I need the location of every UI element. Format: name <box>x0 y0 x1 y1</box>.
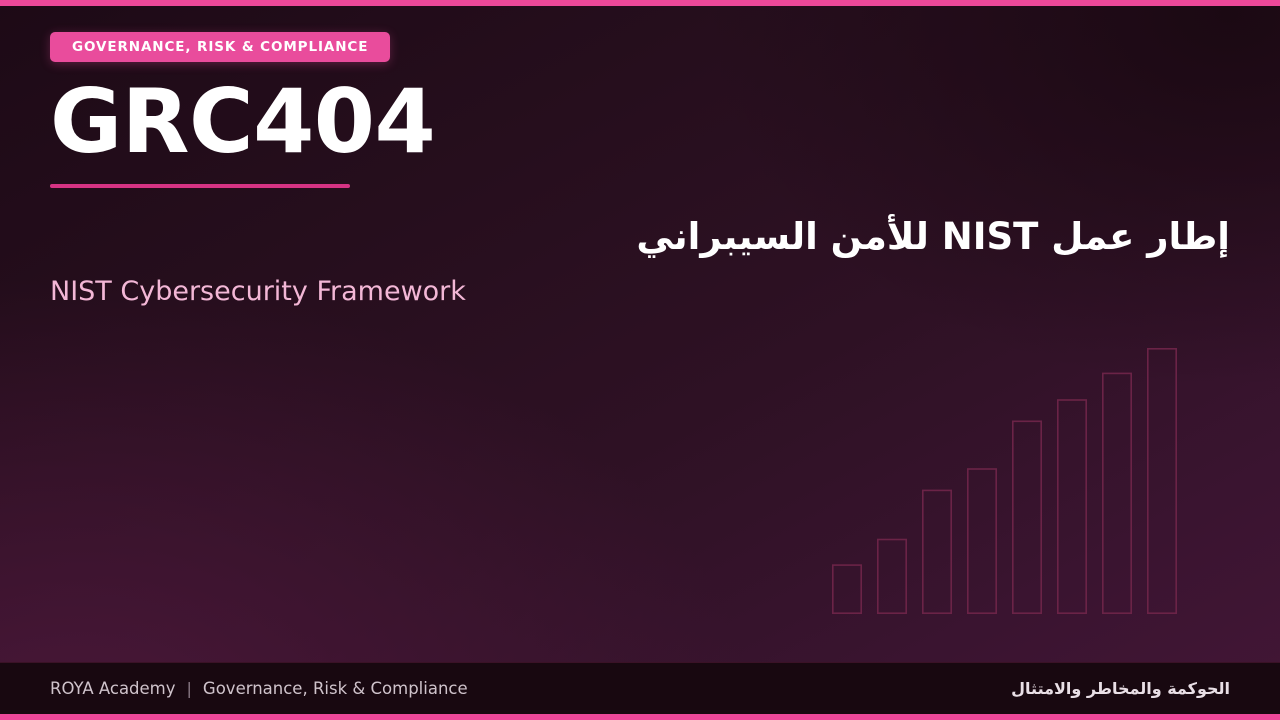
slide-footer: ROYA Academy | Governance, Risk & Compli… <box>0 662 1280 720</box>
course-code-title: GRC404 <box>50 78 435 166</box>
lesson-title-english: NIST Cybersecurity Framework <box>50 275 466 309</box>
title-underline-rule <box>50 184 350 188</box>
bottom-accent-bar <box>0 714 1280 720</box>
footer-track-english: Governance, Risk & Compliance <box>203 679 468 698</box>
course-category-badge: GOVERNANCE, RISK & COMPLIANCE <box>50 32 390 62</box>
footer-track-arabic: الحوكمة والمخاطر والامتثال <box>1011 679 1230 698</box>
lesson-title-arabic: إطار عمل NIST للأمن السيبراني <box>636 214 1230 260</box>
top-accent-bar <box>0 0 1280 6</box>
slide-content: GOVERNANCE, RISK & COMPLIANCE GRC404 إطا… <box>0 0 1280 720</box>
footer-left-group: ROYA Academy | Governance, Risk & Compli… <box>50 679 468 698</box>
slide-root: GOVERNANCE, RISK & COMPLIANCE GRC404 إطا… <box>0 0 1280 720</box>
footer-separator: | <box>187 679 192 698</box>
footer-brand: ROYA Academy <box>50 679 176 698</box>
